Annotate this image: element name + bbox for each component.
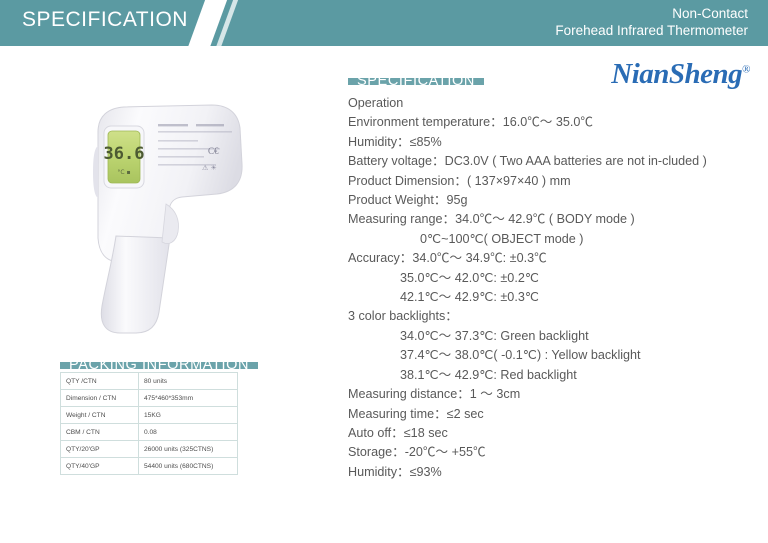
table-cell-label: Weight / CTN xyxy=(61,407,139,424)
ce-mark-icon: C€ xyxy=(208,146,219,156)
spec-line: Storage：-20℃～ +55℃ xyxy=(348,443,752,462)
spec-line: 0℃~100℃( OBJECT mode ) xyxy=(348,230,752,249)
table-row: Weight / CTN 15KG xyxy=(61,407,238,424)
table-cell-label: Dimension / CTN xyxy=(61,390,139,407)
warning-icons: ⚠ ☀ xyxy=(202,164,217,172)
spec-line: 37.4℃～ 38.0℃( -0.1℃) : Yellow backlight xyxy=(348,346,752,365)
spec-line: Battery voltage：DC3.0V ( Two AAA batteri… xyxy=(348,152,752,171)
table-cell-value: 15KG xyxy=(139,407,238,424)
spec-line: Measuring time：≤2 sec xyxy=(348,405,752,424)
spec-line: Humidity：≤85% xyxy=(348,133,752,152)
banner-title: SPECIFICATION xyxy=(22,8,188,32)
table-cell-value: 475*460*353mm xyxy=(139,390,238,407)
table-cell-value: 0.08 xyxy=(139,424,238,441)
header-banner: SPECIFICATION Non-Contact Forehead Infra… xyxy=(0,0,768,46)
product-name-block: Non-Contact Forehead Infrared Thermomete… xyxy=(555,5,748,39)
table-cell-value: 26000 units (325CTNS) xyxy=(139,441,238,458)
product-name-line-1: Non-Contact xyxy=(555,5,748,22)
spec-line: Accuracy：34.0℃～ 34.9℃: ±0.3℃ xyxy=(348,249,752,268)
registered-trademark-icon: ® xyxy=(742,63,750,75)
table-row: QTY/20'GP 26000 units (325CTNS) xyxy=(61,441,238,458)
table-cell-value: 54400 units (680CTNS) xyxy=(139,458,238,475)
lcd-unit-label: °C ▪ xyxy=(117,169,130,176)
spec-line: 3 color backlights： xyxy=(348,307,752,326)
packing-heading: PACKING INFORMATION xyxy=(60,362,258,369)
table-cell-label: QTY /CTN xyxy=(61,373,139,390)
table-cell-value: 80 units xyxy=(139,373,238,390)
table-row: QTY /CTN 80 units xyxy=(61,373,238,390)
spec-line: 38.1℃～ 42.9℃: Red backlight xyxy=(348,366,752,385)
spec-line: Product Weight：95g xyxy=(348,191,752,210)
spec-line: 42.1℃～ 42.9℃: ±0.3℃ xyxy=(348,288,752,307)
thermometer-illustration: 36.6 °C ▪ C€ ⚠ ☀ xyxy=(62,86,302,336)
specification-list: Operation Environment temperature：16.0℃～… xyxy=(348,94,752,482)
spec-line: Environment temperature：16.0℃～ 35.0℃ xyxy=(348,113,752,132)
table-cell-label: CBM / CTN xyxy=(61,424,139,441)
table-row: CBM / CTN 0.08 xyxy=(61,424,238,441)
specification-heading-wrap: SPECIFICATION xyxy=(348,78,752,85)
packing-information-section: PACKING INFORMATION QTY /CTN 80 units Di… xyxy=(60,362,238,475)
table-cell-label: QTY/20'GP xyxy=(61,441,139,458)
spec-line: Humidity：≤93% xyxy=(348,463,752,482)
spec-line: Auto off：≤18 sec xyxy=(348,424,752,443)
specification-heading: SPECIFICATION xyxy=(348,78,484,85)
packing-information-table: QTY /CTN 80 units Dimension / CTN 475*46… xyxy=(60,372,238,475)
lcd-reading: 36.6 xyxy=(104,144,145,164)
table-cell-label: QTY/40'GP xyxy=(61,458,139,475)
table-row: Dimension / CTN 475*460*353mm xyxy=(61,390,238,407)
spec-line: 34.0℃～ 37.3℃: Green backlight xyxy=(348,327,752,346)
product-photo: 36.6 °C ▪ C€ ⚠ ☀ xyxy=(62,86,302,336)
spec-line: Operation xyxy=(348,94,752,113)
spec-line: Measuring range：34.0℃～ 42.9℃ ( BODY mode… xyxy=(348,210,752,229)
table-row: QTY/40'GP 54400 units (680CTNS) xyxy=(61,458,238,475)
spec-line: Product Dimension：( 137×97×40 ) mm xyxy=(348,172,752,191)
spec-line: 35.0℃～ 42.0℃: ±0.2℃ xyxy=(348,269,752,288)
specification-section: SPECIFICATION Operation Environment temp… xyxy=(348,78,752,482)
spec-line: Measuring distance：1 ～ 3cm xyxy=(348,385,752,404)
product-name-line-2: Forehead Infrared Thermometer xyxy=(555,22,748,39)
thermometer-sensor-nose xyxy=(93,146,98,198)
packing-heading-wrap: PACKING INFORMATION xyxy=(60,362,238,369)
